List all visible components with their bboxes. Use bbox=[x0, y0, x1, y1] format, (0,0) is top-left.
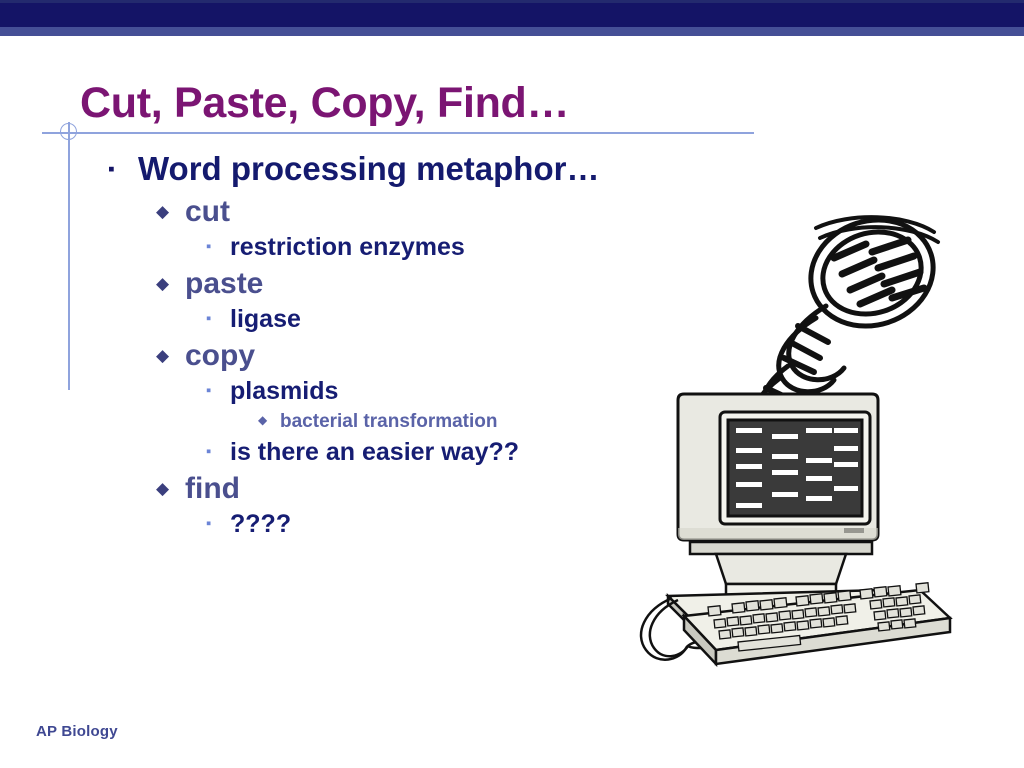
outline-item-label: copy bbox=[185, 339, 255, 373]
outline-item-label: ???? bbox=[230, 510, 291, 539]
small-square-bullet-icon: ▪ bbox=[206, 383, 230, 398]
tiny-diamond-bullet-icon: ◆ bbox=[258, 414, 280, 426]
outline-item-level-4: ◆bacterial transformation bbox=[0, 411, 700, 433]
outline-item-level-3: ▪plasmids bbox=[0, 377, 700, 406]
slide-header-band bbox=[0, 0, 1024, 36]
outline-item-label: cut bbox=[185, 195, 230, 229]
dna-computer-illustration bbox=[620, 198, 970, 678]
footer-label: AP Biology bbox=[36, 723, 118, 740]
small-square-bullet-icon: ▪ bbox=[206, 444, 230, 459]
outline-item-level-3: ▪ligase bbox=[0, 305, 700, 334]
outline-item-label: restriction enzymes bbox=[230, 233, 465, 262]
outline-item-level-3: ▪???? bbox=[0, 510, 700, 539]
page-title: Cut, Paste, Copy, Find… bbox=[80, 82, 569, 125]
small-square-bullet-icon: ▪ bbox=[206, 239, 230, 254]
outline-item-label: plasmids bbox=[230, 377, 338, 406]
diamond-bullet-icon: ◆ bbox=[156, 347, 185, 364]
outline-item-label: is there an easier way?? bbox=[230, 438, 519, 467]
small-square-bullet-icon: ▪ bbox=[206, 311, 230, 326]
outline-item-level-3: ▪restriction enzymes bbox=[0, 233, 700, 262]
small-square-bullet-icon: ▪ bbox=[206, 516, 230, 531]
header-band-accent bbox=[0, 27, 1024, 36]
outline-list: ▪Word processing metaphor…◆cut▪restricti… bbox=[0, 150, 700, 544]
accent-circle-marker-icon bbox=[60, 123, 77, 140]
outline-item-label: paste bbox=[185, 267, 263, 301]
outline-item-label: bacterial transformation bbox=[280, 411, 498, 433]
crt-monitor bbox=[678, 394, 878, 540]
outline-item-level-2: ◆find bbox=[0, 472, 700, 506]
outline-item-level-1: ▪Word processing metaphor… bbox=[0, 150, 700, 188]
outline-item-level-2: ◆copy bbox=[0, 339, 700, 373]
outline-item-label: Word processing metaphor… bbox=[138, 150, 599, 188]
outline-item-label: ligase bbox=[230, 305, 301, 334]
diamond-bullet-icon: ◆ bbox=[156, 480, 185, 497]
diamond-bullet-icon: ◆ bbox=[156, 275, 185, 292]
outline-item-level-2: ◆paste bbox=[0, 267, 700, 301]
outline-item-label: find bbox=[185, 472, 240, 506]
diamond-bullet-icon: ◆ bbox=[156, 203, 185, 220]
outline-item-level-2: ◆cut bbox=[0, 195, 700, 229]
square-bullet-icon: ▪ bbox=[108, 160, 138, 179]
outline-item-level-3: ▪is there an easier way?? bbox=[0, 438, 700, 467]
header-band-main bbox=[0, 3, 1024, 27]
title-underline-rule bbox=[42, 132, 754, 134]
